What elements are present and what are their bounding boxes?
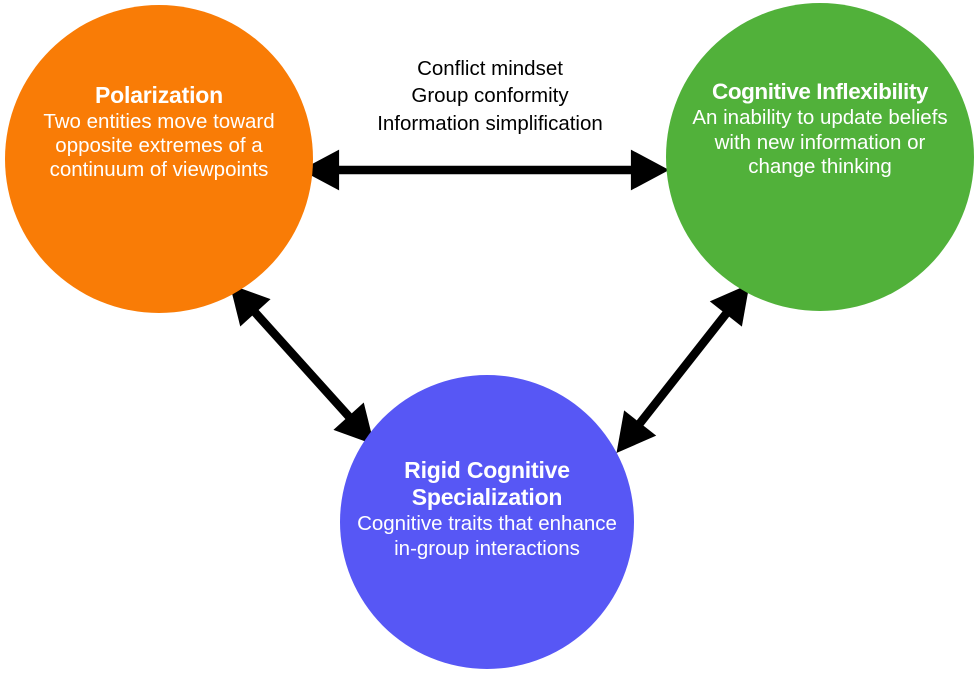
edge-label-polarization-cognitive-inflexibility: Conflict mindset Group conformity Inform… xyxy=(345,55,635,137)
edge-label-line-1: Conflict mindset xyxy=(345,55,635,82)
node-polarization-desc-line-2: opposite extremes of a xyxy=(9,134,309,158)
node-rigid-cognitive-specialization-desc-line-1: Cognitive traits that enhance xyxy=(334,512,640,536)
node-rigid-cognitive-specialization-content: Rigid Cognitive Specialization Cognitive… xyxy=(334,457,640,561)
node-cognitive-inflexibility-title: Cognitive Inflexibility xyxy=(667,79,973,106)
node-polarization-desc-line-3: continuum of viewpoints xyxy=(9,158,309,182)
node-rigid-cognitive-specialization-title-line-1: Rigid Cognitive xyxy=(372,457,602,484)
node-cognitive-inflexibility-desc-line-3: change thinking xyxy=(682,155,958,179)
edge-label-line-2: Group conformity xyxy=(345,82,635,109)
arrow-cognitive-inflexibility-rigid-cognitive-specialization xyxy=(637,310,729,427)
node-polarization[interactable]: Polarization Two entities move toward op… xyxy=(5,5,313,313)
edge-label-line-3: Information simplification xyxy=(345,110,635,137)
node-cognitive-inflexibility[interactable]: Cognitive Inflexibility An inability to … xyxy=(666,3,974,311)
node-polarization-title: Polarization xyxy=(9,82,309,109)
node-rigid-cognitive-specialization-title: Rigid Cognitive Specialization xyxy=(372,457,602,511)
arrow-polarization-rigid-cognitive-specialization xyxy=(252,309,352,420)
node-rigid-cognitive-specialization-description: Cognitive traits that enhance in-group i… xyxy=(334,512,640,560)
concept-diagram: Polarization Two entities move toward op… xyxy=(0,0,975,690)
node-cognitive-inflexibility-desc-line-2: with new information or xyxy=(682,131,958,155)
node-rigid-cognitive-specialization-desc-line-2: in-group interactions xyxy=(334,537,640,561)
node-cognitive-inflexibility-description: An inability to update beliefs with new … xyxy=(682,106,958,179)
node-polarization-content: Polarization Two entities move toward op… xyxy=(9,82,309,183)
node-polarization-description: Two entities move toward opposite extrem… xyxy=(9,110,309,183)
node-rigid-cognitive-specialization[interactable]: Rigid Cognitive Specialization Cognitive… xyxy=(340,375,634,669)
node-cognitive-inflexibility-desc-line-1: An inability to update beliefs xyxy=(682,106,958,130)
node-cognitive-inflexibility-content: Cognitive Inflexibility An inability to … xyxy=(667,79,973,179)
node-polarization-desc-line-1: Two entities move toward xyxy=(9,110,309,134)
node-rigid-cognitive-specialization-title-line-2: Specialization xyxy=(372,484,602,511)
